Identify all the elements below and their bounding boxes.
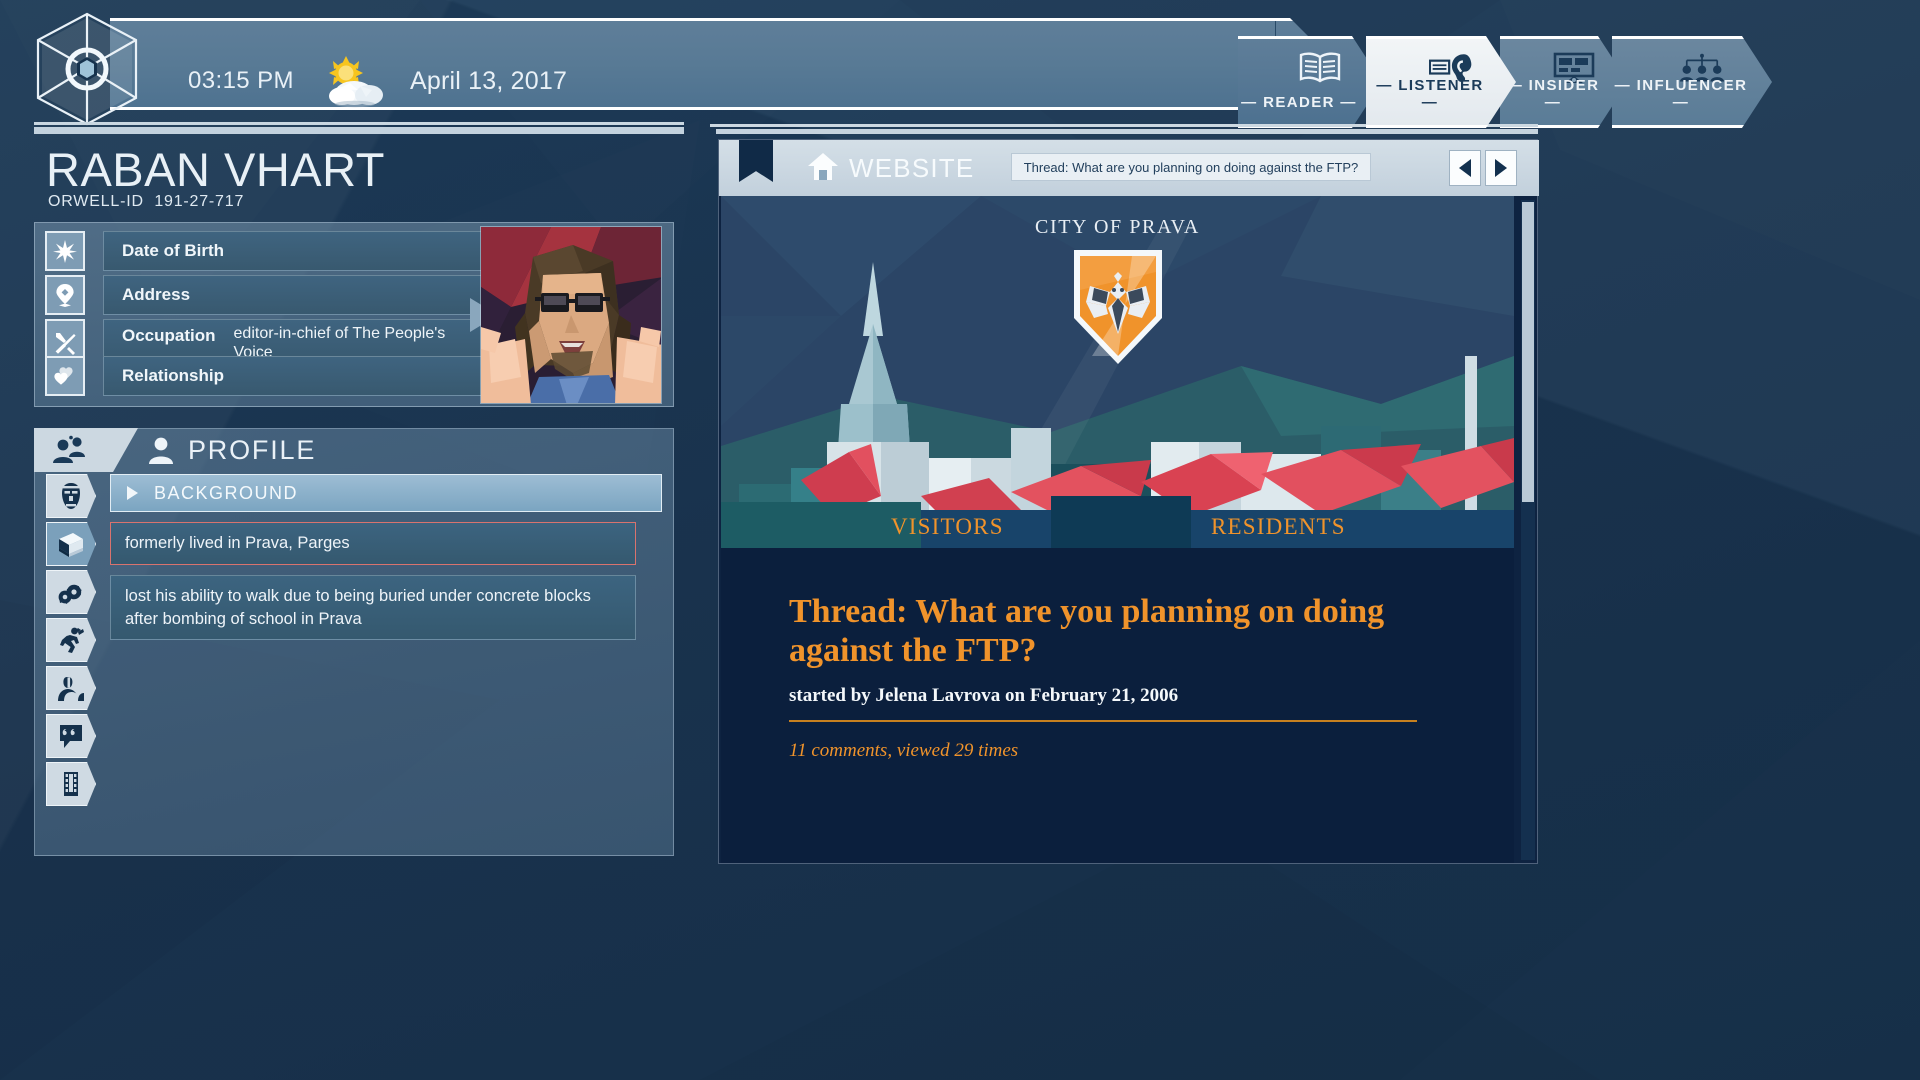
current-date: April 13, 2017 [410,67,567,96]
label-date-of-birth: Date of Birth [122,241,224,261]
tab-listener-label: — LISTENER — [1366,77,1494,111]
avatar [480,226,662,404]
nav-link-visitors[interactable]: VISITORS [891,514,1004,540]
label-address: Address [122,285,190,305]
profile-datachunks: BACKGROUND formerly lived in Prava, Parg… [110,474,662,640]
label-occupation: Occupation [122,326,216,346]
thread-stats: 11 comments, viewed 29 times [789,740,1018,762]
orwell-id-label: ORWELL-ID [48,193,144,210]
tab-reader[interactable]: — READER — [1238,36,1382,128]
page-title: RABAN VHART [46,142,385,197]
thread-title: Thread: What are you planning on doing a… [789,592,1419,671]
divider [789,720,1417,722]
site-banner: CITY OF PRAVA [721,196,1514,548]
tab-reader-label: — READER — [1238,94,1360,111]
label-relationship: Relationship [122,366,224,386]
asterisk-icon [45,231,85,271]
orwell-id-value: 191-27-717 [154,193,244,210]
prava-bat-crest-icon [1072,248,1164,366]
tab-influencer-label: — INFLUENCER — [1612,77,1750,111]
section-header-background[interactable]: BACKGROUND [110,474,662,512]
tab-influencer[interactable]: — INFLUENCER — [1612,36,1772,128]
film-strip-icon[interactable] [46,762,96,806]
book-background-icon[interactable] [46,522,96,566]
nav-link-residents[interactable]: RESIDENTS [1211,514,1346,540]
search-input[interactable]: Thread: What are you planning on doing a… [1011,153,1371,181]
running-person-icon[interactable] [46,618,96,662]
site-label: WEBSITE [849,153,974,184]
nav-prev-button[interactable] [1449,150,1481,186]
location-pin-icon [45,275,85,315]
web-page-content: CITY OF PRAVA [721,196,1514,863]
triangle-left-icon [1459,159,1471,177]
section-header-label: BACKGROUND [154,483,298,504]
speech-quote-icon[interactable] [46,714,96,758]
people-group-icon [50,435,88,465]
list-item[interactable]: formerly lived in Prava, Parges [110,522,636,565]
browser-window: WEBSITE Thread: What are you planning on… [718,139,1538,864]
person-bust-icon[interactable] [46,666,96,710]
profile-header: PROFILE [138,428,674,472]
chevron-right-icon [127,486,138,500]
status-strip [110,18,1330,110]
tab-listener[interactable]: — LISTENER — [1366,36,1516,128]
clock-time: 03:15 PM [188,67,294,95]
orwell-id: ORWELL-ID 191-27-717 [48,193,244,211]
triangle-right-icon [1495,159,1507,177]
open-book-icon [1298,51,1342,85]
left-panel-frame [34,122,684,134]
field-relationship: Relationship [103,356,485,396]
nav-next-button[interactable] [1485,150,1517,186]
profile-category-rail [46,474,96,810]
face-head-icon[interactable] [46,474,96,518]
hearts-icon [45,356,85,396]
home-icon[interactable] [807,152,839,182]
top-bar: 03:15 PM April 13, 2017 [0,18,1920,110]
field-address: Address [103,275,485,315]
person-silhouette-icon [148,436,174,464]
sun-behind-cloud-icon [320,56,386,108]
scrollbar[interactable] [1521,200,1535,860]
orwell-emblem-icon [32,10,142,128]
field-date-of-birth: Date of Birth [103,231,485,271]
scrollbar-thumb[interactable] [1522,202,1534,502]
thread-article: Thread: What are you planning on doing a… [721,548,1514,863]
banner-kicker: CITY OF PRAVA [721,216,1514,239]
profile-header-title: PROFILE [188,435,316,466]
gears-skills-icon[interactable] [46,570,96,614]
thread-byline: started by Jelena Lavrova on February 21… [789,685,1178,707]
list-item[interactable]: lost his ability to walk due to being bu… [110,575,636,641]
